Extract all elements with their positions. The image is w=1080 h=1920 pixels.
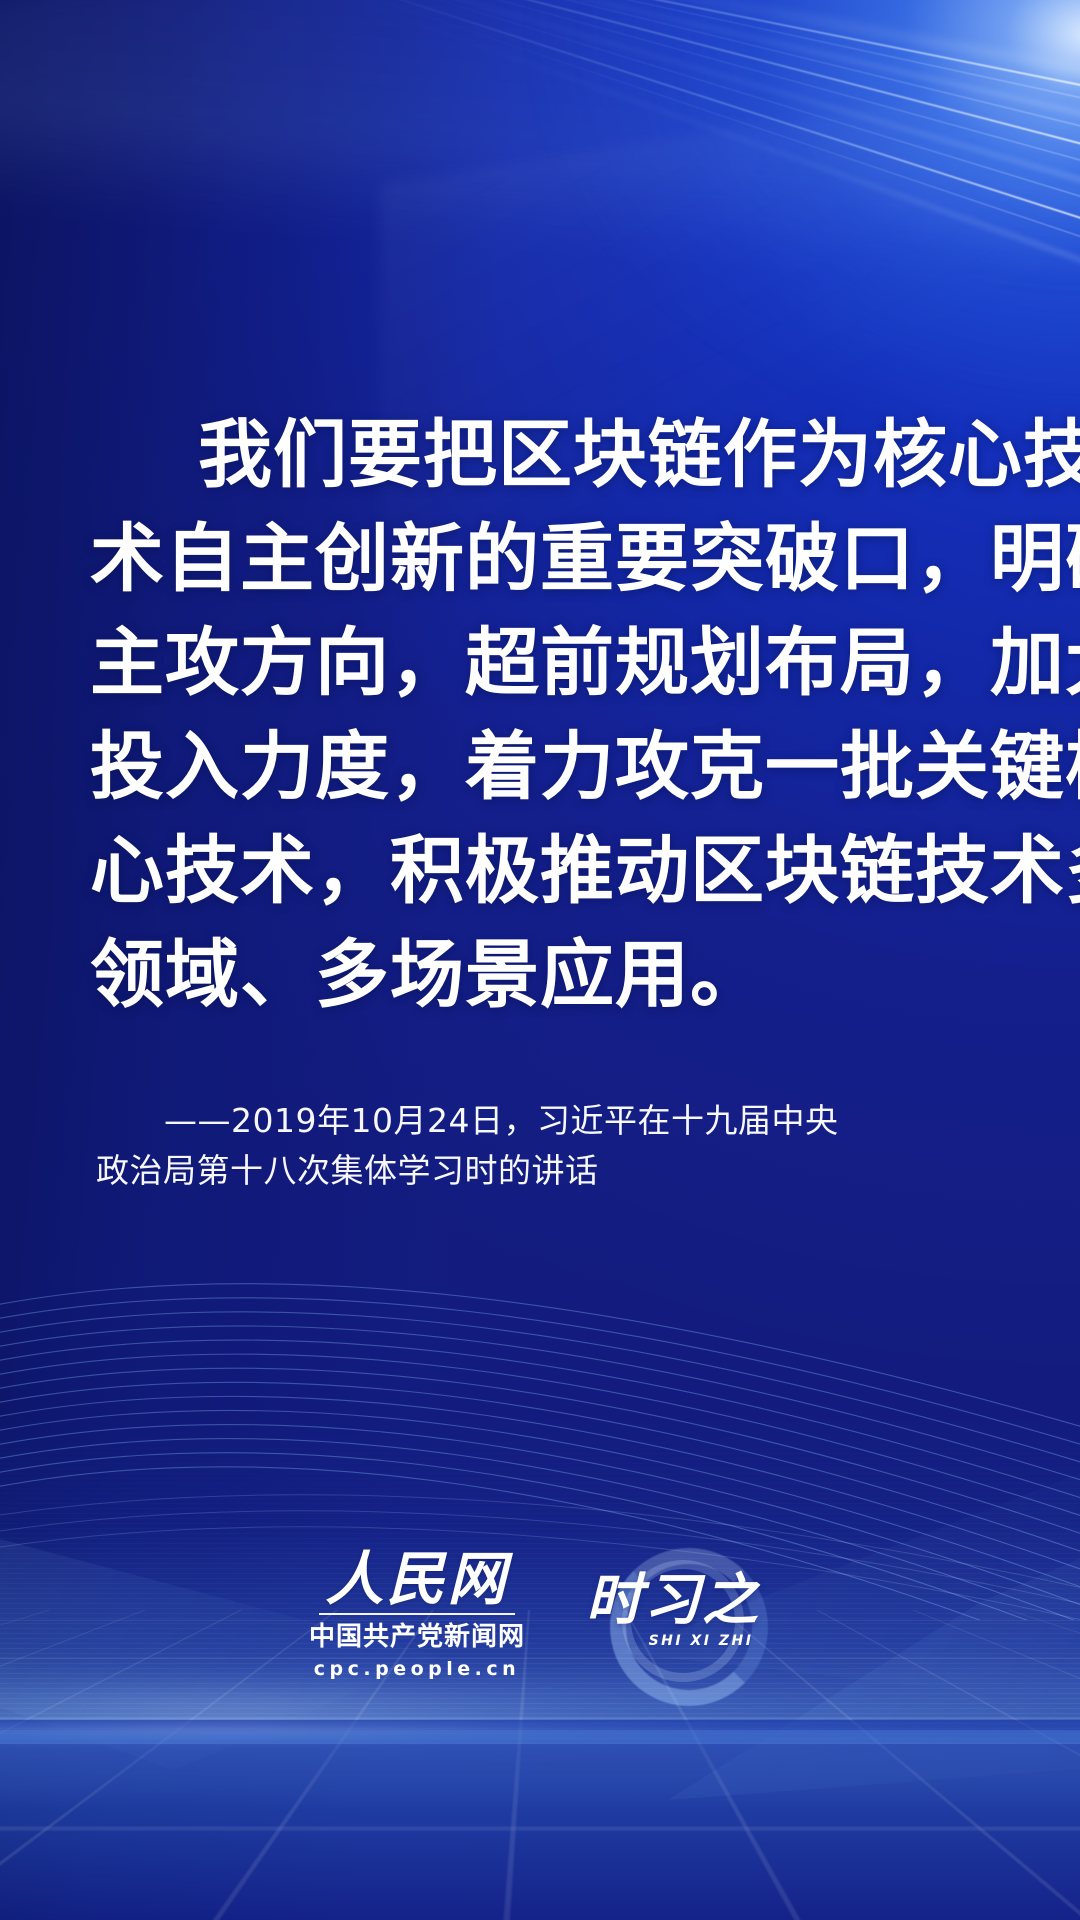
attribution: ——2019年10月24日，习近平在十九届中央 政治局第十八次集体学习时的讲话 — [96, 1096, 996, 1196]
quote-line-6: 领域、多场景应用。 — [90, 938, 1002, 1012]
quote-line-1: 我们要把区块链作为核心技 — [90, 418, 1002, 492]
people-cn-url[interactable]: cpc.people.cn — [314, 1656, 520, 1682]
logo-row: 人民网 中国共产党新闻网 cpc.people.cn 时习之 SHI XI ZH… — [0, 1548, 1080, 1684]
poster-canvas: 我们要把区块链作为核心技 术自主创新的重要突破口，明确 主攻方向，超前规划布局，… — [0, 0, 1080, 1920]
perspective-grid-fade — [0, 1720, 1080, 1920]
people-cn-wordmark: 人民网 — [325, 1548, 508, 1610]
people-cn-divider — [319, 1613, 515, 1615]
quote-line-2: 术自主创新的重要突破口，明确 — [90, 522, 1002, 596]
quote-text: 我们要把区块链作为核心技 术自主创新的重要突破口，明确 主攻方向，超前规划布局，… — [90, 418, 1002, 1042]
shixizhi-wordmark: 时习之 — [568, 1572, 778, 1630]
quote-line-3: 主攻方向，超前规划布局，加大 — [90, 626, 1002, 700]
shixizhi-pinyin: SHI XI ZHI — [568, 1632, 778, 1650]
attribution-line-2: 政治局第十八次集体学习时的讲话 — [96, 1146, 996, 1196]
shixizhi-logo[interactable]: 时习之 SHI XI ZHI — [568, 1554, 778, 1684]
quote-line-5: 心技术，积极推动区块链技术多 — [90, 834, 1002, 908]
attribution-line-1: ——2019年10月24日，习近平在十九届中央 — [96, 1096, 996, 1146]
quote-line-4: 投入力度，着力攻克一批关键核 — [90, 730, 1002, 804]
people-cn-logo[interactable]: 人民网 中国共产党新闻网 cpc.people.cn — [302, 1548, 532, 1682]
people-cn-subtitle: 中国共产党新闻网 — [309, 1622, 525, 1652]
